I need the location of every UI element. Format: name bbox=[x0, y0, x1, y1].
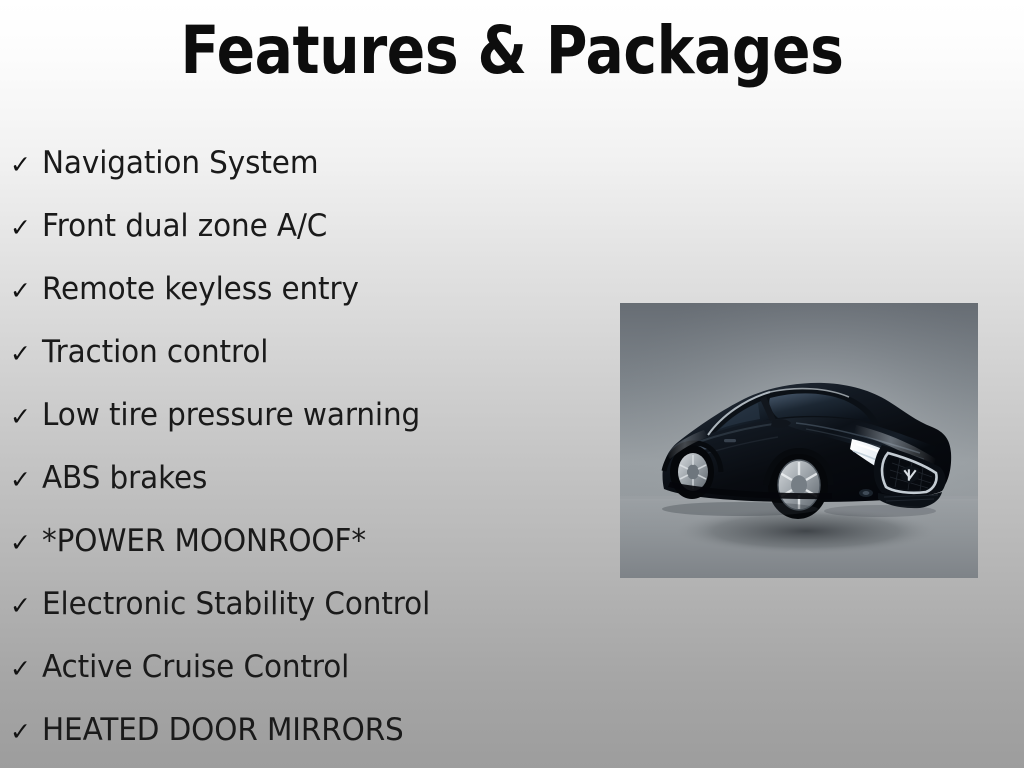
feature-label: ABS brakes bbox=[42, 447, 207, 510]
vehicle-photo-image bbox=[620, 303, 978, 578]
feature-label: Navigation System bbox=[42, 132, 318, 195]
check-icon: ✓ bbox=[10, 700, 42, 763]
feature-label: Front dual zone A/C bbox=[42, 195, 327, 258]
check-icon: ✓ bbox=[10, 133, 42, 196]
list-item: ✓ HEATED DOOR MIRRORS bbox=[10, 699, 610, 762]
list-item: ✓ Electronic Stability Control bbox=[10, 573, 610, 636]
list-item: ✓ ABS brakes bbox=[10, 447, 610, 510]
feature-label: HEATED DOOR MIRRORS bbox=[42, 699, 404, 762]
feature-label: *POWER MOONROOF* bbox=[42, 510, 366, 573]
list-item: ✓ Traction control bbox=[10, 321, 610, 384]
feature-label: Low tire pressure warning bbox=[42, 384, 420, 447]
check-icon: ✓ bbox=[10, 259, 42, 322]
slide-canvas: Features & Packages ✓ Navigation System … bbox=[0, 0, 1024, 768]
check-icon: ✓ bbox=[10, 448, 42, 511]
list-item: ✓ Front dual zone A/C bbox=[10, 195, 610, 258]
feature-label: Traction control bbox=[42, 321, 268, 384]
feature-label: Remote keyless entry bbox=[42, 258, 359, 321]
check-icon: ✓ bbox=[10, 385, 42, 448]
list-item: ✓ Remote keyless entry bbox=[10, 258, 610, 321]
feature-label: Electronic Stability Control bbox=[42, 573, 430, 636]
list-item: ✓ Navigation System bbox=[10, 132, 610, 195]
page-title: Features & Packages bbox=[72, 16, 953, 86]
vehicle-photo bbox=[620, 303, 978, 578]
list-item: ✓ Low tire pressure warning bbox=[10, 384, 610, 447]
check-icon: ✓ bbox=[10, 637, 42, 700]
list-item: ✓ *POWER MOONROOF* bbox=[10, 510, 610, 573]
check-icon: ✓ bbox=[10, 511, 42, 574]
feature-list: ✓ Navigation System ✓ Front dual zone A/… bbox=[10, 132, 610, 762]
check-icon: ✓ bbox=[10, 322, 42, 385]
list-item: ✓ Active Cruise Control bbox=[10, 636, 610, 699]
check-icon: ✓ bbox=[10, 196, 42, 259]
check-icon: ✓ bbox=[10, 574, 42, 637]
feature-label: Active Cruise Control bbox=[42, 636, 349, 699]
